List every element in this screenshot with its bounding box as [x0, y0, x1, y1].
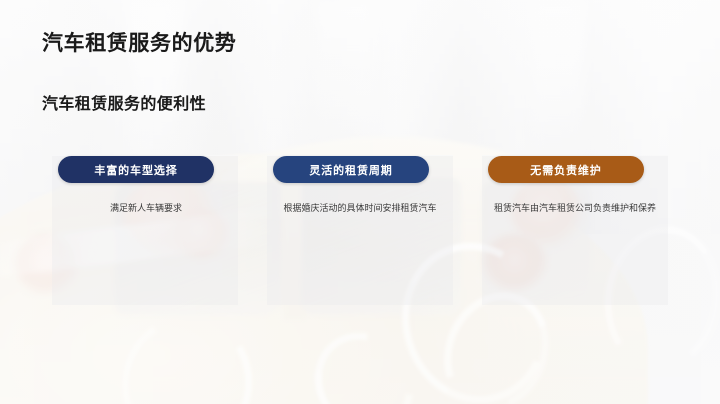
feature-card-row: 丰富的车型选择 满足新人车辆要求 灵活的租赁周期 根据婚庆活动的具体时间安排租赁…	[52, 155, 668, 305]
feature-card-2[interactable]: 灵活的租赁周期 根据婚庆活动的具体时间安排租赁汽车	[267, 155, 453, 305]
feature-card-3-body: 租赁汽车由汽车租赁公司负责维护和保养	[488, 201, 662, 217]
feature-card-2-body: 根据婚庆活动的具体时间安排租赁汽车	[273, 201, 447, 217]
feature-card-1-heading-pill[interactable]: 丰富的车型选择	[58, 156, 214, 183]
feature-card-3-heading-pill[interactable]: 无需负责维护	[488, 156, 644, 183]
feature-card-2-heading-pill[interactable]: 灵活的租赁周期	[273, 156, 429, 183]
feature-card-3[interactable]: 无需负责维护 租赁汽车由汽车租赁公司负责维护和保养	[482, 155, 668, 305]
feature-card-1-body: 满足新人车辆要求	[66, 201, 226, 217]
slide: 汽车租赁服务的优势 汽车租赁服务的便利性 丰富的车型选择 满足新人车辆要求 灵活…	[0, 0, 720, 404]
slide-title: 汽车租赁服务的优势	[42, 27, 236, 57]
feature-card-1[interactable]: 丰富的车型选择 满足新人车辆要求	[52, 155, 238, 305]
slide-subtitle: 汽车租赁服务的便利性	[42, 90, 206, 114]
